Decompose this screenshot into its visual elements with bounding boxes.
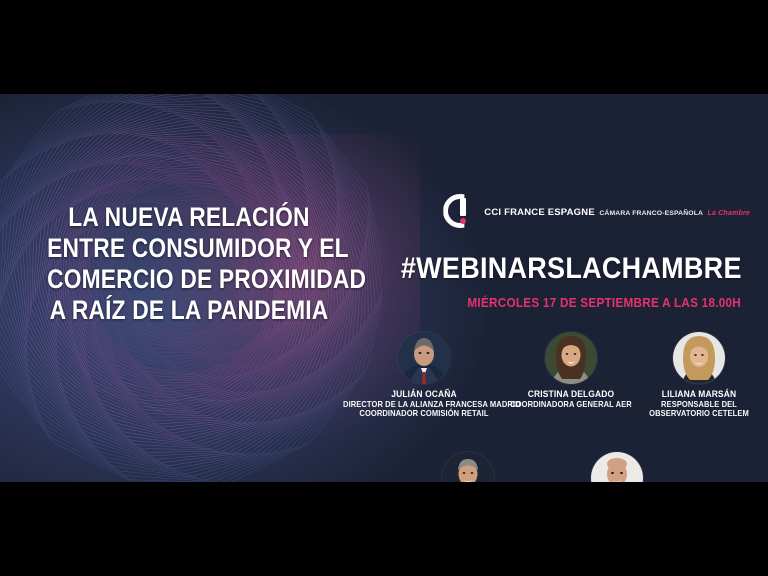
avatar (442, 452, 494, 482)
speaker-name: JULIÁN OCAÑA (343, 389, 505, 400)
logo-wordmark: CCI FRANCE ESPAGNE CÁMARA FRANCO-ESPAÑOL… (484, 202, 750, 219)
cci-france-espagne-logo: CCI FRANCE ESPAGNE CÁMARA FRANCO-ESPAÑOL… (443, 194, 750, 228)
avatar (591, 452, 643, 482)
speaker-role-line: COORDINADOR COMISIÓN RETAIL (343, 409, 505, 419)
speaker-role-line: OBSERVATORIO CETELEM (618, 409, 768, 419)
letterbox-bar-bottom (0, 482, 768, 576)
avatar (673, 332, 725, 384)
webinar-datetime: MIÉRCOLES 17 DE SEPTIEMBRE A LAS 18.00H (467, 295, 741, 310)
logo-line-2: CÁMARA FRANCO-ESPAÑOLA (599, 210, 703, 217)
video-frame: LA NUEVA RELACIÓN ENTRE CONSUMIDOR Y EL … (0, 0, 768, 576)
webinar-hashtag: #WEBINARSLACHAMBRE (401, 252, 742, 286)
headline-line-4: A RAÍZ DE LA PANDEMIA (47, 295, 331, 326)
avatar (545, 332, 597, 384)
letterbox-bar-top (0, 0, 768, 94)
headline-line-3: COMERCIO DE PROXIMIDAD (47, 264, 331, 295)
speaker-name: LILIANA MARSÁN (618, 389, 768, 400)
headline-line-2: ENTRE CONSUMIDOR Y EL (47, 233, 331, 264)
speaker-role-line: DIRECTOR DE LA ALIANZA FRANCESA MADRID (343, 400, 505, 410)
cci-logo-icon (443, 194, 477, 228)
speaker-role-line: RESPONSABLE DEL (618, 400, 768, 410)
page-title: LA NUEVA RELACIÓN ENTRE CONSUMIDOR Y EL … (24, 202, 354, 326)
logo-line-3: La Chambre (708, 210, 750, 217)
webinar-poster: LA NUEVA RELACIÓN ENTRE CONSUMIDOR Y EL … (0, 94, 768, 482)
avatar (398, 332, 450, 384)
speaker-card: LILIANA MARSÁN RESPONSABLE DEL OBSERVATO… (611, 332, 768, 419)
speaker-card: PABLO GUTIÉRREZ RETAIL CHANNEL DIRECTOR.… (529, 452, 705, 482)
headline-line-1: LA NUEVA RELACIÓN (47, 202, 331, 233)
logo-line-1: CCI FRANCE ESPAGNE (484, 207, 595, 218)
